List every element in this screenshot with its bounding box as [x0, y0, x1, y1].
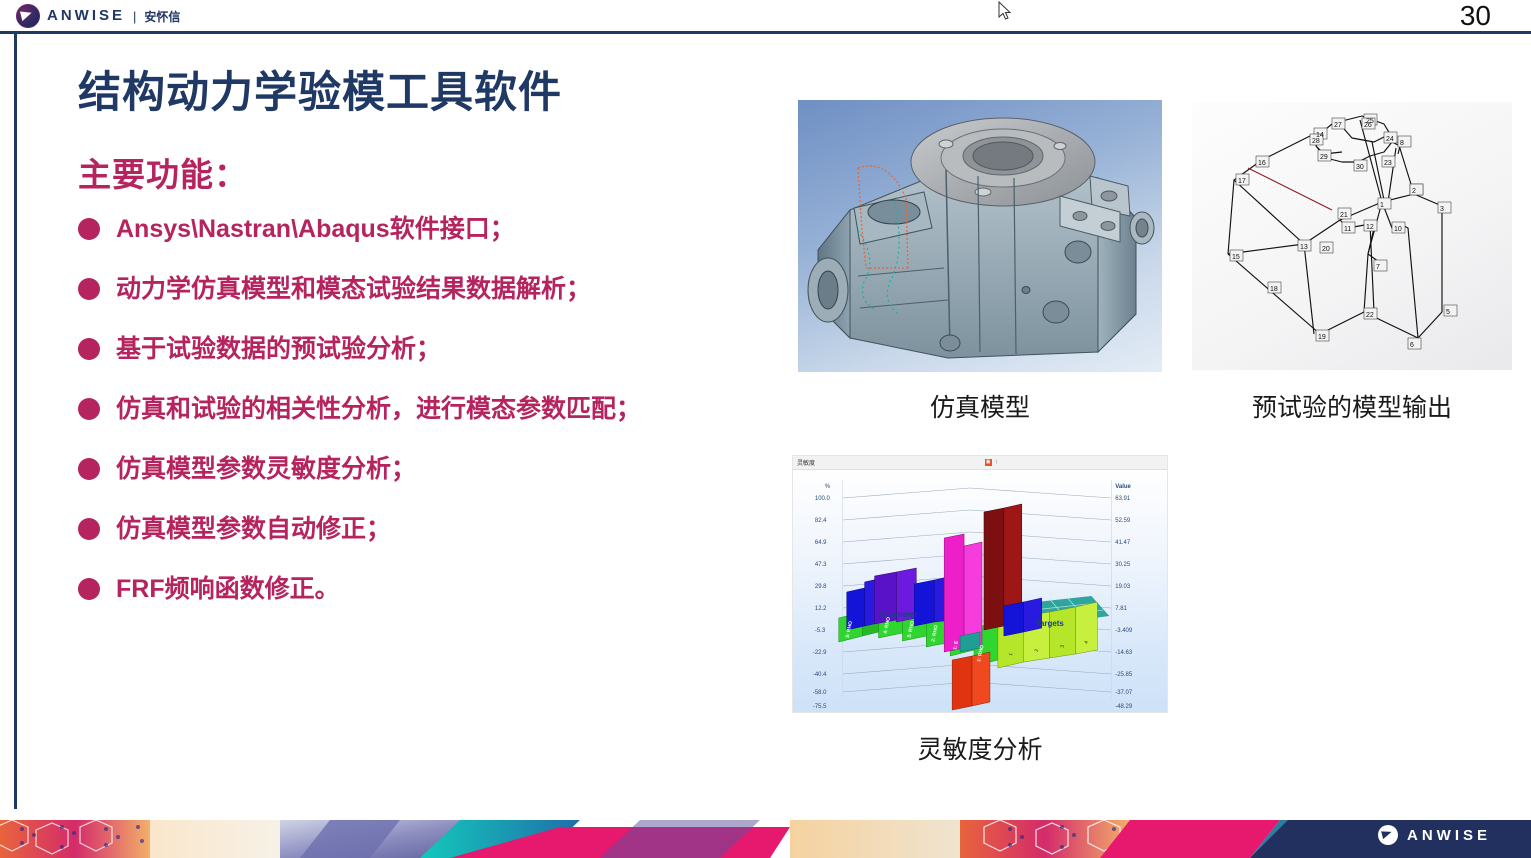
svg-text:10: 10 — [1394, 226, 1402, 233]
sensitivity-window-title: 灵敏度 — [797, 458, 815, 467]
bullet-dot-icon — [78, 398, 100, 420]
svg-text:%: % — [825, 484, 831, 490]
svg-text:Value: Value — [1115, 484, 1131, 490]
svg-text:16: 16 — [1258, 160, 1266, 167]
sensitivity-3d-bar-chart: % 100.0 82.4 64.9 47.3 29.8 12.2 -5.3 -2… — [793, 470, 1167, 713]
bullet-dot-icon — [78, 218, 100, 240]
footer-bar: ANWISE — [0, 813, 1531, 858]
list-item-label: 基于试验数据的预试验分析； — [116, 330, 441, 368]
mouse-cursor — [998, 1, 1012, 21]
svg-text:82.4: 82.4 — [815, 518, 827, 524]
pretest-wireframe-image: 123 567 81011 121314 151617 181920 21222… — [1192, 102, 1512, 370]
bullet-dot-icon — [78, 458, 100, 480]
list-item-label: 仿真模型参数自动修正； — [116, 510, 391, 548]
svg-text:15: 15 — [1232, 254, 1240, 261]
anwise-logo-icon — [16, 4, 40, 28]
cad-model-drawing — [798, 100, 1162, 372]
svg-text:Targets: Targets — [1036, 619, 1065, 628]
svg-text:18: 18 — [1270, 286, 1278, 293]
svg-text:13: 13 — [1300, 244, 1308, 251]
svg-text:7.81: 7.81 — [1115, 606, 1127, 612]
svg-text:21: 21 — [1340, 212, 1348, 219]
svg-text:30.25: 30.25 — [1115, 562, 1131, 568]
list-item-label: Ansys\Nastran\Abaqus软件接口； — [116, 210, 515, 248]
svg-text:3: 3 — [1440, 206, 1444, 213]
svg-text:-37.07: -37.07 — [1115, 690, 1133, 696]
list-item-label: 仿真模型参数灵敏度分析； — [116, 450, 416, 488]
brand-logo-text: ANWISE — [47, 4, 125, 28]
svg-text:-40.4: -40.4 — [813, 672, 827, 678]
svg-text:-58.0: -58.0 — [813, 690, 827, 696]
svg-text:63.91: 63.91 — [1115, 496, 1131, 502]
svg-text:-22.9: -22.9 — [813, 650, 827, 656]
svg-text:12.2: 12.2 — [815, 606, 827, 612]
wireframe-caption: 预试验的模型输出 — [1192, 388, 1512, 424]
svg-text:-3.409: -3.409 — [1115, 628, 1133, 634]
feature-list: Ansys\Nastran\Abaqus软件接口； 动力学仿真模型和模态试验结果… — [78, 210, 798, 630]
footer-brand-text: ANWISE — [1407, 827, 1491, 844]
svg-text:27: 27 — [1334, 122, 1342, 129]
svg-text:28: 28 — [1312, 138, 1320, 145]
svg-text:52.59: 52.59 — [1115, 518, 1131, 524]
svg-text:Parameter: Parameter — [879, 610, 918, 619]
bullet-dot-icon — [78, 278, 100, 300]
brand-logo-chinese: 安怀信 — [144, 8, 180, 25]
svg-text:6: 6 — [1410, 342, 1414, 349]
sensitivity-window-titlebar: 灵敏度 ▣ \ — [793, 456, 1167, 470]
list-item: 仿真模型参数自动修正； — [78, 510, 798, 570]
brand-logo: ANWISE | 安怀信 — [16, 3, 180, 29]
svg-text:-14.63: -14.63 — [1115, 650, 1133, 656]
wireframe-drawing: 123 567 81011 121314 151617 181920 21222… — [1192, 102, 1512, 370]
sensitivity-chart-window: 灵敏度 ▣ \ — [792, 455, 1168, 713]
document-icon[interactable]: ▣ — [985, 459, 992, 466]
brand-logo-separator: | — [132, 9, 137, 24]
svg-text:8: 8 — [1400, 140, 1404, 147]
svg-text:20: 20 — [1322, 246, 1330, 253]
svg-text:22: 22 — [1366, 312, 1374, 319]
bullet-dot-icon — [78, 518, 100, 540]
svg-text:2: 2 — [1412, 188, 1416, 195]
list-item: FRF频响函数修正。 — [78, 570, 798, 630]
svg-text:-48.29: -48.29 — [1115, 704, 1133, 710]
list-item: 动力学仿真模型和模态试验结果数据解析； — [78, 270, 798, 330]
svg-text:29: 29 — [1320, 154, 1328, 161]
svg-text:41.47: 41.47 — [1115, 540, 1131, 546]
svg-text:17: 17 — [1238, 178, 1246, 185]
header-divider — [0, 31, 1531, 34]
svg-text:-25.85: -25.85 — [1115, 672, 1133, 678]
path-text: \ — [996, 460, 998, 466]
bullet-dot-icon — [78, 338, 100, 360]
page-number: 30 — [1460, 1, 1491, 31]
svg-text:-5.3: -5.3 — [815, 628, 826, 634]
svg-text:-75.5: -75.5 — [813, 704, 827, 710]
list-item: 仿真模型参数灵敏度分析； — [78, 450, 798, 510]
svg-text:5: 5 — [1446, 309, 1450, 316]
list-item: Ansys\Nastran\Abaqus软件接口； — [78, 210, 798, 270]
svg-text:19.03: 19.03 — [1115, 584, 1131, 590]
list-item: 基于试验数据的预试验分析； — [78, 330, 798, 390]
left-accent-rule — [14, 34, 17, 809]
svg-text:12: 12 — [1366, 224, 1374, 231]
svg-text:64.9: 64.9 — [815, 540, 827, 546]
sensitivity-caption: 灵敏度分析 — [792, 730, 1168, 766]
list-item-label: 仿真和试验的相关性分析，进行模态参数匹配； — [116, 390, 641, 428]
svg-text:1: 1 — [1380, 202, 1384, 209]
list-item-label: FRF频响函数修正。 — [116, 570, 340, 608]
svg-text:30: 30 — [1356, 164, 1364, 171]
svg-text:29.8: 29.8 — [815, 584, 827, 590]
footer-decorative-pattern — [0, 813, 1531, 858]
anwise-footer-logo-icon — [1378, 825, 1398, 845]
svg-text:47.3: 47.3 — [815, 562, 827, 568]
list-item-label: 动力学仿真模型和模态试验结果数据解析； — [116, 270, 591, 308]
svg-text:11: 11 — [1344, 226, 1351, 233]
top-bar: ANWISE | 安怀信 30 — [0, 0, 1531, 32]
section-subtitle: 主要功能： — [78, 148, 248, 196]
footer-brand-logo: ANWISE — [1378, 825, 1491, 845]
cad-model-caption: 仿真模型 — [798, 388, 1162, 424]
svg-text:23: 23 — [1384, 160, 1392, 167]
svg-text:19: 19 — [1318, 334, 1326, 341]
sensitivity-plot-area: % 100.0 82.4 64.9 47.3 29.8 12.2 -5.3 -2… — [793, 470, 1167, 713]
cad-model-image — [798, 100, 1162, 372]
svg-text:26: 26 — [1364, 122, 1372, 129]
svg-text:24: 24 — [1386, 136, 1394, 143]
svg-text:100.0: 100.0 — [815, 496, 831, 502]
page-title: 结构动力学验模工具软件 — [78, 58, 562, 120]
svg-text:7: 7 — [1376, 264, 1380, 271]
bullet-dot-icon — [78, 578, 100, 600]
list-item: 仿真和试验的相关性分析，进行模态参数匹配； — [78, 390, 798, 450]
